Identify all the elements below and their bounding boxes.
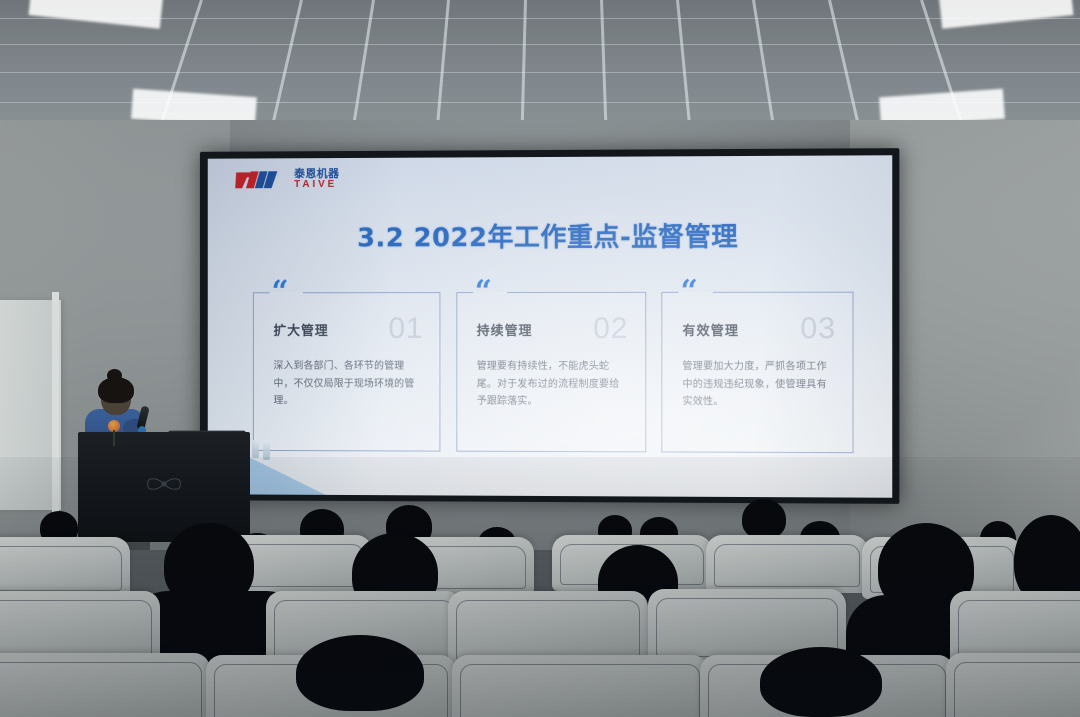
projection-screen: 泰恩机器 TAIVE 3.2 2022年工作重点-监督管理 “ 01 扩大管理 … [200, 148, 899, 504]
card-body: 管理要有持续性，不能虎头蛇尾。对于发布过的流程制度要给予跟踪落实。 [477, 358, 627, 411]
water-bottle [252, 440, 259, 458]
audience-seat [946, 653, 1080, 717]
slide-card: “ 02 持续管理 管理要有持续性，不能虎头蛇尾。对于发布过的流程制度要给予跟踪… [456, 292, 646, 452]
quote-icon: “ [475, 277, 490, 307]
quote-icon: “ [680, 277, 695, 307]
audience-seat [0, 653, 210, 717]
quote-icon: “ [272, 277, 287, 307]
slide-card: “ 03 有效管理 管理要加大力度，严抓各项工作中的违规违纪现象，使管理具有实效… [661, 292, 853, 453]
ceiling-light-panel [938, 0, 1073, 29]
audience-head [296, 635, 424, 711]
card-heading: 扩大管理 [273, 320, 328, 339]
logo-latin: TAIVE [294, 180, 339, 190]
audience-head [742, 499, 786, 539]
card-heading: 持续管理 [477, 320, 533, 339]
screen-surface: 泰恩机器 TAIVE 3.2 2022年工作重点-监督管理 “ 01 扩大管理 … [208, 155, 892, 498]
card-number: 03 [800, 312, 836, 346]
card-heading: 有效管理 [682, 320, 739, 339]
card-body: 深入到各部门、各环节的管理中，不仅仅局限于现场环境的管理。 [273, 358, 421, 410]
card-body: 管理要加大力度，严抓各项工作中的违规违纪现象，使管理具有实效性。 [682, 358, 834, 411]
audience [0, 457, 1080, 717]
audience-seat [452, 655, 708, 717]
logo-wordmark: 泰恩机器 TAIVE [294, 168, 339, 190]
audience-head [760, 647, 882, 717]
slide-cards: “ 01 扩大管理 深入到各部门、各环节的管理中，不仅仅局限于现场环境的管理。 … [253, 292, 854, 453]
ceiling-light-panel [28, 0, 163, 29]
card-number: 02 [593, 312, 628, 346]
card-number: 01 [389, 312, 424, 346]
company-logo: 泰恩机器 TAIVE [235, 168, 339, 190]
flower-stem [113, 430, 115, 446]
slide-title: 3.2 2022年工作重点-监督管理 [208, 216, 892, 255]
audience-seat [706, 535, 868, 593]
conference-room-photo: 泰恩机器 TAIVE 3.2 2022年工作重点-监督管理 “ 01 扩大管理 … [0, 0, 1080, 717]
presentation-slide: 泰恩机器 TAIVE 3.2 2022年工作重点-监督管理 “ 01 扩大管理 … [208, 155, 892, 498]
logo-chinese: 泰恩机器 [294, 168, 339, 179]
slide-card: “ 01 扩大管理 深入到各部门、各环节的管理中，不仅仅局限于现场环境的管理。 [253, 292, 441, 451]
audience-seat [0, 537, 130, 597]
taive-tw-logo-icon [235, 168, 288, 190]
